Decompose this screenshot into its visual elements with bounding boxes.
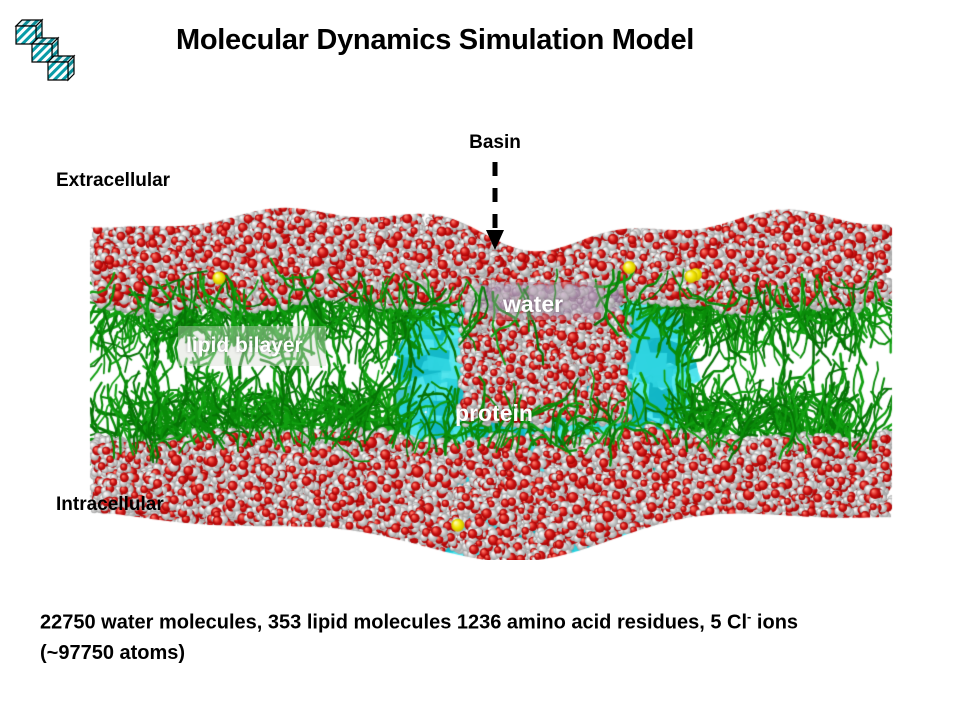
stacked-cubes-icon (14, 12, 98, 84)
label-basin: Basin (440, 132, 550, 154)
label-protein: protein (455, 400, 533, 427)
label-lipid-bilayer: lipid bilayer (186, 334, 303, 358)
caption-line1-a: 22750 water molecules, 353 lipid molecul… (40, 612, 747, 634)
caption-line2: (~97750 atoms) (40, 642, 185, 664)
slide-title: Molecular Dynamics Simulation Model (176, 24, 694, 57)
label-intracellular: Intracellular (56, 494, 164, 516)
caption-line1-b: ions (751, 612, 798, 634)
label-extracellular: Extracellular (56, 170, 170, 192)
basin-annotation: Basin (440, 132, 550, 252)
slide-logo (14, 12, 98, 84)
basin-dashed-arrow-icon (440, 158, 550, 254)
label-water: water (503, 291, 563, 318)
composition-caption: 22750 water molecules, 353 lipid molecul… (40, 602, 940, 668)
